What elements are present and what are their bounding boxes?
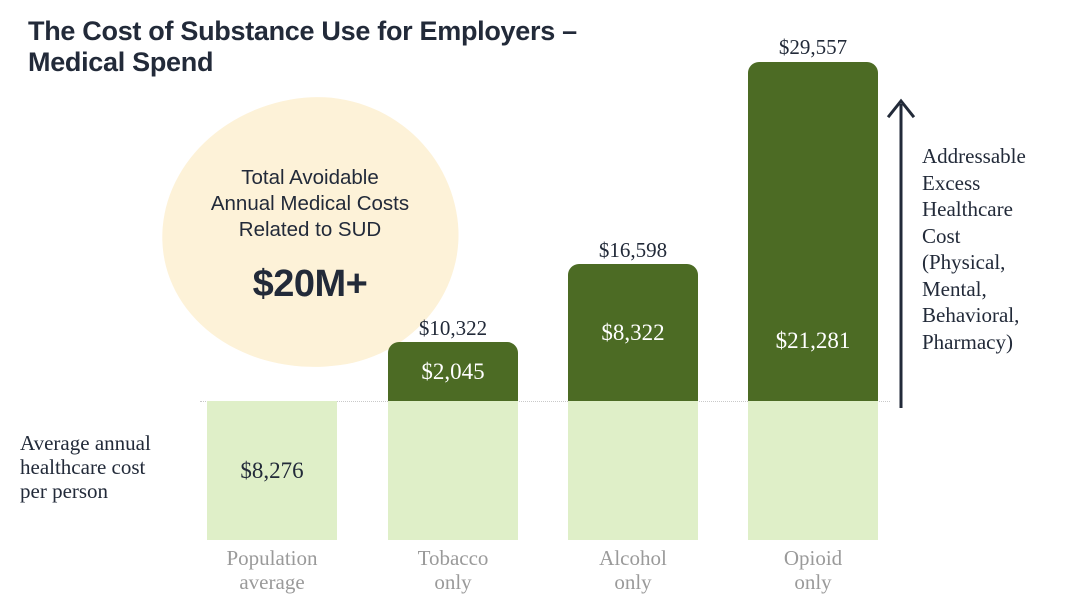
- up-arrow-icon: [884, 96, 918, 408]
- bar-total-label: $10,322: [388, 316, 518, 341]
- bar-segment-excess-cost[interactable]: $2,045: [388, 342, 518, 401]
- bar-category-label: Tobacco only: [373, 546, 533, 594]
- bar-total-label: $16,598: [568, 238, 698, 263]
- bar-total-label: $29,557: [748, 35, 878, 60]
- bar-segment-value-label: $8,322: [601, 320, 664, 346]
- bar-segment-baseline-cost[interactable]: [388, 401, 518, 540]
- bar-segment-excess-cost[interactable]: $21,281: [748, 62, 878, 401]
- bar-category-label: Alcohol only: [553, 546, 713, 594]
- bar-segment-value-label: $8,276: [240, 458, 303, 484]
- baseline-cost-annotation: Average annual healthcare cost per perso…: [20, 431, 200, 503]
- excess-cost-annotation: Addressable Excess Healthcare Cost (Phys…: [922, 143, 1072, 355]
- bar-segment-baseline-cost[interactable]: [568, 401, 698, 540]
- bar-category-label: Population average: [192, 546, 352, 594]
- bar-segment-excess-cost[interactable]: $8,322: [568, 264, 698, 401]
- bar-segment-baseline-cost[interactable]: [748, 401, 878, 540]
- bar-segment-value-label: $21,281: [776, 328, 851, 354]
- bar-category-label: Opioid only: [733, 546, 893, 594]
- bar-segment-value-label: $2,045: [421, 359, 484, 385]
- bar-segment-baseline-cost[interactable]: $8,276: [207, 401, 337, 540]
- bar-chart-plot-area: $8,276 Population average $10,322 $2,045…: [0, 0, 1080, 607]
